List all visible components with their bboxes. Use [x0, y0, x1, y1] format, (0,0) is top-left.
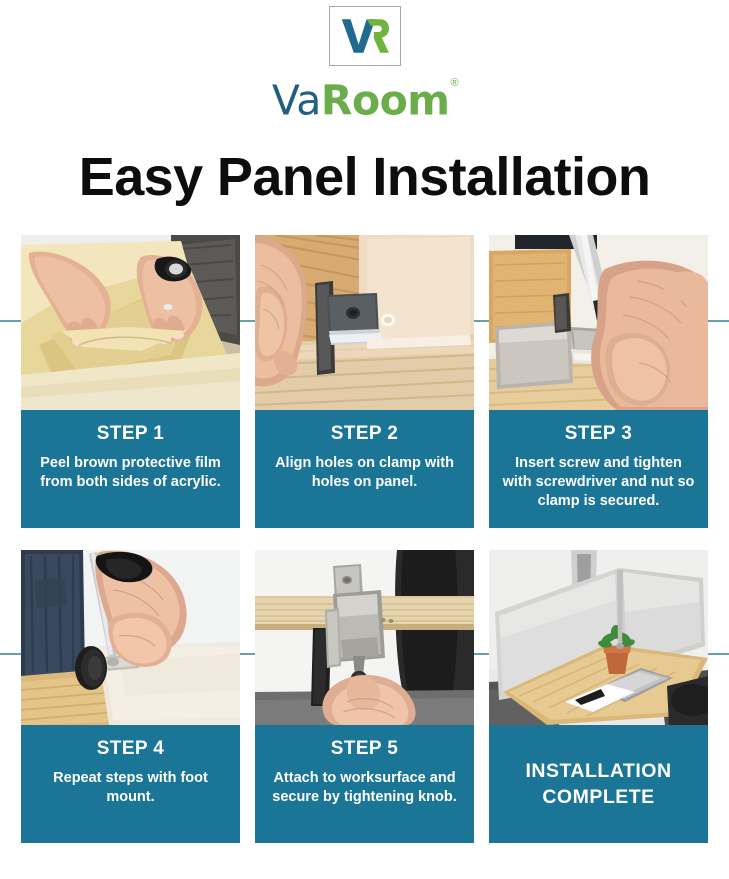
steps-row-2: STEP 4 Repeat steps with foot mount.	[21, 550, 708, 843]
step-label: STEP 2	[265, 423, 464, 445]
completion-text: INSTALLATION COMPLETE	[489, 758, 708, 810]
step-caption-1: STEP 1 Peel brown protective film from b…	[21, 410, 240, 528]
step-card-3: STEP 3 Insert screw and tighten with scr…	[489, 235, 708, 528]
step-card-5: STEP 5 Attach to worksurface and secure …	[255, 550, 474, 843]
attach-to-worksurface-photo	[255, 550, 474, 725]
step-text: Peel brown protective film from both sid…	[31, 454, 230, 492]
varoom-wordmark: VaRoom®	[272, 75, 457, 123]
decorative-rule-left	[0, 320, 22, 322]
step-label: STEP 3	[499, 423, 698, 445]
completion-caption: INSTALLATION COMPLETE	[489, 725, 708, 843]
registered-trademark-symbol: ®	[451, 77, 459, 89]
aligning-clamp-holes-photo	[255, 235, 474, 410]
step-caption-4: STEP 4 Repeat steps with foot mount.	[21, 725, 240, 843]
step-label: STEP 5	[265, 738, 464, 760]
installation-instructions-page: VaRoom® Easy Panel Installation	[0, 0, 729, 879]
vr-monogram-icon	[329, 6, 401, 66]
step-card-1: STEP 1 Peel brown protective film from b…	[21, 235, 240, 528]
step-caption-5: STEP 5 Attach to worksurface and secure …	[255, 725, 474, 843]
decorative-rule-left-2	[0, 653, 22, 655]
step-caption-3: STEP 3 Insert screw and tighten with scr…	[489, 410, 708, 528]
brand-logo: VaRoom®	[0, 6, 729, 123]
steps-grid: STEP 1 Peel brown protective film from b…	[21, 235, 708, 843]
step-caption-2: STEP 2 Align holes on clamp with holes o…	[255, 410, 474, 528]
wordmark-room: Room	[321, 77, 450, 125]
tightening-screw-photo	[489, 235, 708, 410]
finished-desk-divider-photo	[489, 550, 708, 725]
step-card-4: STEP 4 Repeat steps with foot mount.	[21, 550, 240, 843]
step-card-complete: INSTALLATION COMPLETE	[489, 550, 708, 843]
step-text: Align holes on clamp with holes on panel…	[265, 454, 464, 492]
step-label: STEP 4	[31, 738, 230, 760]
page-title: Easy Panel Installation	[0, 146, 729, 208]
steps-row-1: STEP 1 Peel brown protective film from b…	[21, 235, 708, 528]
wordmark-va: Va	[272, 77, 321, 125]
step-label: STEP 1	[31, 423, 230, 445]
step-text: Insert screw and tighten with screwdrive…	[499, 454, 698, 511]
foot-mount-photo	[21, 550, 240, 725]
step-text: Attach to worksurface and secure by tigh…	[265, 769, 464, 807]
peeling-protective-film-photo	[21, 235, 240, 410]
step-text: Repeat steps with foot mount.	[31, 769, 230, 807]
step-card-2: STEP 2 Align holes on clamp with holes o…	[255, 235, 474, 528]
